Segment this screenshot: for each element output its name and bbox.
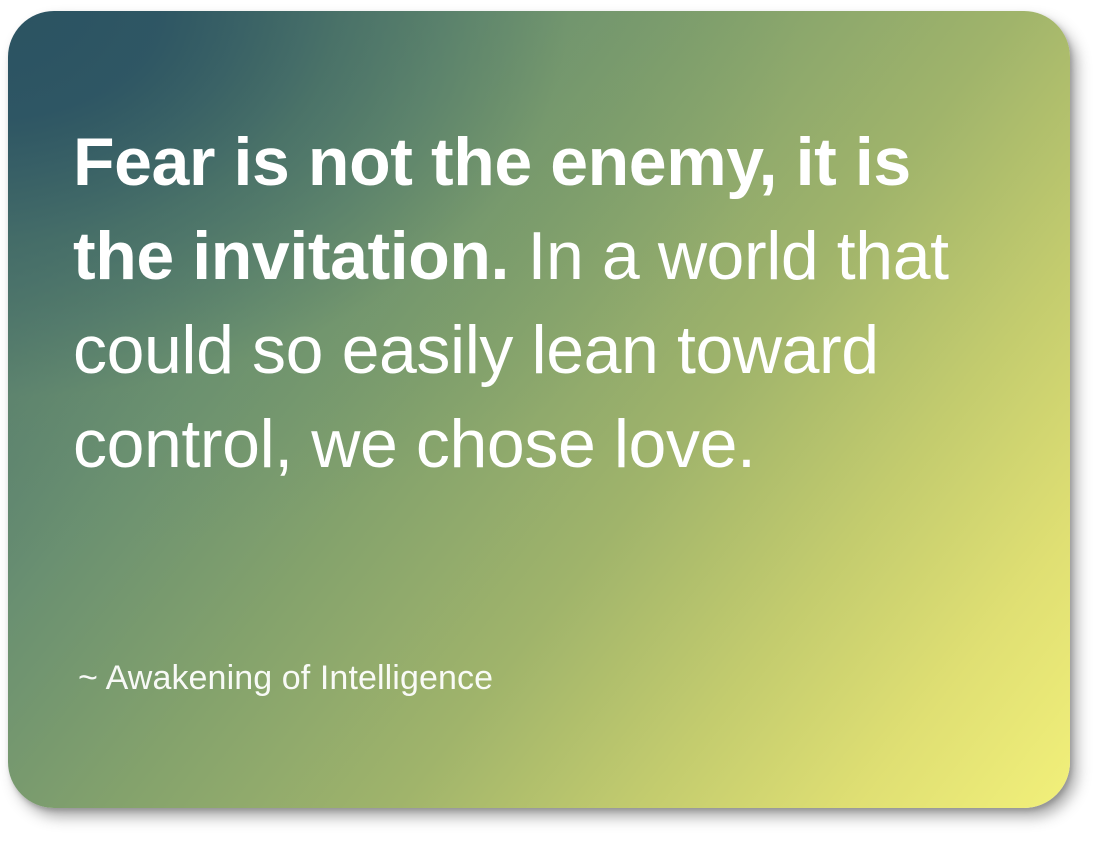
quote-card-content: Fear is not the enemy, it is the invitat… [8,11,1070,808]
quote-card: Fear is not the enemy, it is the invitat… [8,11,1070,808]
quote-attribution: ~ Awakening of Intelligence [78,656,493,700]
quote-text: Fear is not the enemy, it is the invitat… [73,115,978,491]
